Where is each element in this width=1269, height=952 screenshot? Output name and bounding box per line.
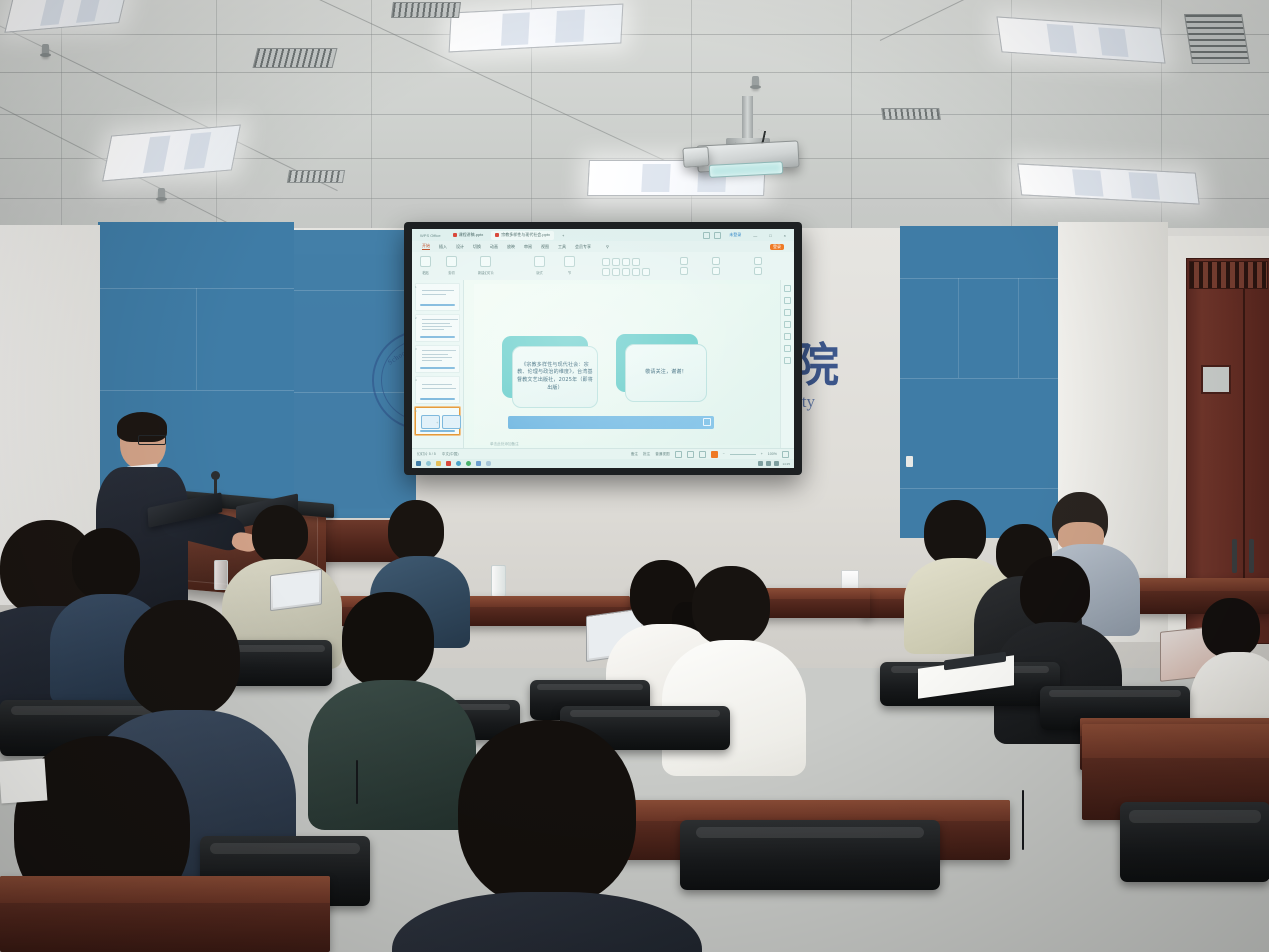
ribbon-tab-7[interactable]: 视图 [541,244,549,250]
ai-pane-icon[interactable] [784,333,791,340]
replace-icon[interactable] [754,267,762,275]
italic-icon[interactable] [612,258,620,266]
head [252,505,308,563]
ribbon-tab-4[interactable]: 动画 [490,244,498,250]
ribbon-tab-0[interactable]: 开始 [422,243,430,250]
search-icon[interactable]: ⚲ [606,244,609,249]
shapes-icon[interactable] [680,257,688,265]
door-transom [1189,261,1268,289]
explorer-icon[interactable] [436,461,441,466]
ribbon-group-section-label: 节 [568,270,571,275]
shape-pane-icon[interactable] [784,297,791,304]
wps-workspace: 1 2 3 [412,280,794,449]
slide-card-right-text: 敬请关注，谢谢！ [645,369,687,377]
align-left-icon[interactable] [602,268,610,276]
slide-thumbnail[interactable]: 3 [415,345,460,373]
sprinkler-head [158,188,165,200]
search-icon[interactable] [426,461,431,466]
chair-back [1120,802,1269,882]
head [692,566,770,646]
desk-row [0,876,330,952]
slide-card-right[interactable]: 敬请关注，谢谢！ [625,344,707,402]
head [342,592,434,688]
power-cable [356,760,358,804]
slide-number: 4 [415,378,417,382]
torso [392,892,702,952]
share-icon[interactable] [703,232,710,239]
wps-tab-1[interactable]: 宗教多样性与现代社会.pptx [491,231,554,240]
band-handle[interactable] [703,418,711,426]
current-slide[interactable]: 《宗教多样性与现代社会：宗教、伦理与政治的维度》，台湾基督教文艺出版社，2025… [474,284,770,445]
pptx-file-icon [495,233,499,237]
view-label: 普通视图 [655,452,669,457]
slide-card-left[interactable]: 《宗教多样性与现代社会：宗教、伦理与政治的维度》，台湾基督教文艺出版社，2025… [512,346,598,408]
ribbon-group-arrange [712,257,720,275]
sync-icon[interactable] [714,232,721,239]
fit-window-icon[interactable] [782,451,789,458]
wps-ribbon-tabbar[interactable]: 开始 插入 设计 切换 动画 放映 审阅 视图 工具 会员专享 ⚲ 登录 [412,241,794,252]
notes-toggle[interactable]: 备注 [631,452,638,457]
blue-wall-panel-right [900,226,1058,538]
close-button[interactable]: × [780,231,790,240]
head [1020,556,1090,628]
slide-card-left-text: 《宗教多样性与现代社会：宗教、伦理与政治的维度》，台湾基督教文艺出版社，2025… [517,362,593,393]
ribbon-group-font [602,258,640,266]
slide-number: 3 [415,347,417,351]
layout-icon[interactable] [534,256,545,267]
network-icon[interactable] [758,461,763,466]
login-button[interactable]: 登录 [770,244,784,250]
ribbon-group-newslide: 新建幻灯片 [478,256,494,275]
cut-icon[interactable] [446,256,457,267]
ac-vent [253,48,338,68]
bold-icon[interactable] [602,258,610,266]
wps-tab-0[interactable]: 课程讲稿.pptx [449,231,488,240]
chair-back [680,820,940,890]
ribbon-tab-6[interactable]: 审阅 [524,244,532,250]
ac-vent [287,170,345,183]
template-pane-icon[interactable] [784,357,791,364]
arrange-icon[interactable] [680,267,688,275]
wps-icon[interactable] [446,461,451,466]
new-slide-icon[interactable] [480,256,491,267]
volume-icon[interactable] [766,461,771,466]
language-indicator[interactable]: 中文(中国) [442,452,459,457]
ribbon-tab-5[interactable]: 放映 [507,244,515,250]
pptx-file-icon [453,233,457,237]
zoom-out-icon[interactable]: − [723,452,725,456]
ribbon-tab-2[interactable]: 设计 [456,244,464,250]
water-bottle [491,565,506,597]
ribbon-group-newslide-label: 新建幻灯片 [478,270,494,275]
format-pane-icon[interactable] [784,285,791,292]
power-cable [1022,790,1024,850]
slide-number: 1 [415,285,417,289]
handout-paper [0,758,47,803]
ribbon-tab-9[interactable]: 会员专享 [575,244,591,250]
wps-statusbar: 幻灯片 5 / 5 中文(中国) 备注 批注 普通视图 − + 100% [412,448,794,459]
align-center-icon[interactable] [612,268,620,276]
maximize-button[interactable]: □ [765,231,775,240]
animation-pane-icon[interactable] [784,321,791,328]
paste-icon[interactable] [420,256,431,267]
projector-side [682,146,709,168]
presenter-glasses [138,435,166,445]
find-icon[interactable] [754,257,762,265]
align-right-icon[interactable] [622,268,630,276]
start-icon[interactable] [416,461,421,466]
account-label[interactable]: 未登录 [725,231,745,240]
head [1202,598,1260,658]
ribbon-group-section: 节 [564,256,575,275]
slide-thumbnail[interactable]: 1 [415,283,460,311]
underline-icon[interactable] [622,258,630,266]
ribbon-group-find [754,257,762,275]
cloud-icon[interactable] [486,461,491,466]
ribbon-group-paste: 粘贴 [420,256,431,275]
numbering-icon[interactable] [642,268,650,276]
browser-icon[interactable] [456,461,461,466]
ac-vent [881,108,941,120]
head [124,600,240,718]
notes-placeholder[interactable]: 单击此处添加备注 [490,442,519,447]
reading-view-icon[interactable] [699,451,706,458]
taskbar-clock[interactable]: 14:25 [782,462,790,466]
zoom-in-icon[interactable]: + [761,452,763,456]
system-tray[interactable]: 14:25 [758,461,790,466]
ribbon-group-layout: 版式 [534,256,545,275]
group-objects-icon[interactable] [712,267,720,275]
slide-number: 5 [415,409,417,413]
ac-vent [1184,14,1250,64]
sprinkler-head [752,76,759,88]
zoom-slider[interactable] [730,454,756,455]
slide-counter: 幻灯片 5 / 5 [417,452,436,457]
add-slide-icon[interactable]: + [436,420,438,425]
ribbon-group-shapes [680,257,688,275]
sprinkler-head [42,44,49,56]
ribbon-group-cut: 剪切 [446,256,457,275]
picture-pane-icon[interactable] [784,309,791,316]
sorter-view-icon[interactable] [687,451,694,458]
slide-thumbnail[interactable]: 4 [415,376,460,404]
ribbon-tab-1[interactable]: 插入 [439,244,447,250]
head [924,500,986,566]
wps-tab-1-label: 宗教多样性与现代社会.pptx [501,232,550,238]
slide-thumbnail-pane[interactable]: 1 2 3 [412,280,464,449]
section-icon[interactable] [564,256,575,267]
ribbon-group-paste-label: 粘贴 [422,270,428,275]
water-bottle [214,560,228,590]
zoom-level[interactable]: 100% [768,452,777,456]
wps-titlebar: WPS Office 课程讲稿.pptx 宗教多样性与现代社会.pptx + 未… [412,229,794,241]
font-color-icon[interactable] [632,258,640,266]
mail-icon[interactable] [476,461,481,466]
head [72,528,140,600]
wps-new-tab-button[interactable]: + [558,231,568,240]
ribbon-group-layout-label: 版式 [536,270,542,275]
ribbon-group-cut-label: 剪切 [448,270,454,275]
door-window [1201,365,1231,394]
wps-tab-0-label: 课程讲稿.pptx [459,232,484,238]
battery-icon[interactable] [774,461,779,466]
ac-vent [391,2,461,18]
ceiling [0,0,1269,232]
comment-toggle[interactable]: 批注 [643,452,650,457]
door-handle[interactable] [1232,539,1237,573]
align-objects-icon[interactable] [712,257,720,265]
ribbon-group-paragraph [602,268,650,276]
microphone-head [211,471,220,480]
windows-taskbar[interactable]: 14:25 [412,459,794,468]
light-switch[interactable] [906,456,913,467]
slide-canvas[interactable]: 《宗教多样性与现代社会：宗教、伦理与政治的维度》，台湾基督教文艺出版社，2025… [464,280,780,449]
right-tool-rail[interactable] [780,280,794,449]
wps-home-tab[interactable]: WPS Office [416,231,445,240]
slide-thumbnail[interactable]: 2 [415,314,460,342]
head [388,500,444,562]
wps-ribbon[interactable]: 粘贴 剪切 新建幻灯片 版式 节 [412,252,794,281]
resource-pane-icon[interactable] [784,345,791,352]
door-handle[interactable] [1249,539,1254,573]
slide-number: 2 [415,316,417,320]
lecture-hall-photo: School of Public 院 ity WPS Office 课程讲稿.p… [0,0,1269,952]
slide-footer-band[interactable] [508,416,714,429]
head [458,720,636,906]
normal-view-icon[interactable] [675,451,682,458]
torso [308,680,476,830]
slideshow-icon[interactable] [711,451,718,458]
minimize-button[interactable]: — [749,231,761,240]
chat-icon[interactable] [466,461,471,466]
bullets-icon[interactable] [632,268,640,276]
projected-wps-window[interactable]: WPS Office 课程讲稿.pptx 宗教多样性与现代社会.pptx + 未… [412,229,794,468]
ribbon-tab-3[interactable]: 切换 [473,244,481,250]
ribbon-tab-8[interactable]: 工具 [558,244,566,250]
